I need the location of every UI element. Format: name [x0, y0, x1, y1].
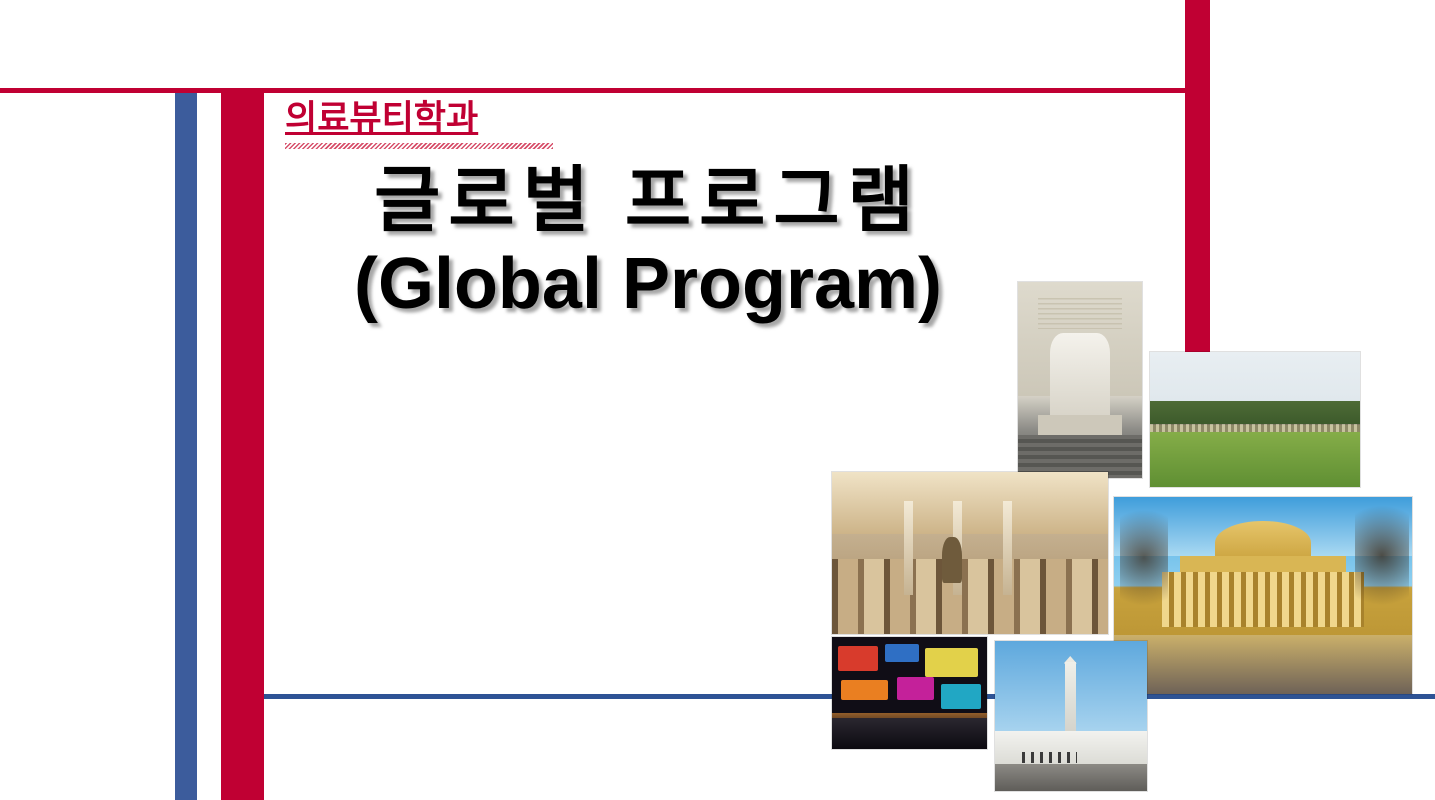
interior-column	[1003, 501, 1012, 595]
billboard	[941, 684, 981, 709]
billboard	[838, 646, 878, 671]
presentation-slide: 의료뷰티학과 글로벌 프로그램 (Global Program)	[0, 0, 1435, 800]
memorial-inscription	[1038, 298, 1122, 329]
crowd-row	[1150, 424, 1360, 432]
lincoln-memorial-photo	[1018, 282, 1142, 478]
green-lawn	[1150, 432, 1360, 487]
columbia-university-low-library-photo	[1114, 497, 1412, 694]
slide-title: 글로벌 프로그램 (Global Program)	[288, 160, 1008, 326]
slide-title-line-korean: 글로벌 프로그램	[288, 160, 1008, 243]
spellcheck-underline	[285, 143, 553, 149]
interior-column	[904, 501, 913, 595]
billboard	[885, 644, 919, 662]
building-steps	[1114, 635, 1412, 694]
billboard	[925, 648, 978, 677]
decor-blue-vertical-bar	[175, 93, 197, 800]
washington-monument-photo	[995, 641, 1147, 791]
billboard	[897, 677, 934, 699]
arcade-arches	[832, 559, 1108, 634]
street-surface	[832, 718, 987, 749]
bare-tree-right	[1355, 505, 1409, 631]
slide-title-line-english: (Global Program)	[288, 243, 1008, 326]
building-colonnade	[1162, 572, 1365, 627]
tree-line	[1150, 401, 1360, 425]
decor-crimson-vertical-top	[1185, 0, 1210, 352]
bare-tree-left	[1120, 509, 1168, 631]
people-silhouettes	[1022, 752, 1077, 763]
decor-crimson-vertical-bar	[221, 93, 264, 800]
department-label: 의료뷰티학과	[285, 100, 478, 139]
library-of-congress-interior-photo	[832, 472, 1108, 634]
times-square-night-photo	[832, 637, 987, 749]
lincoln-statue	[1050, 333, 1110, 423]
billboard	[841, 680, 888, 700]
road-surface	[995, 764, 1147, 791]
central-park-lawn-photo	[1150, 352, 1360, 487]
vaulted-ceiling	[832, 472, 1108, 534]
statue-figure	[942, 537, 962, 583]
